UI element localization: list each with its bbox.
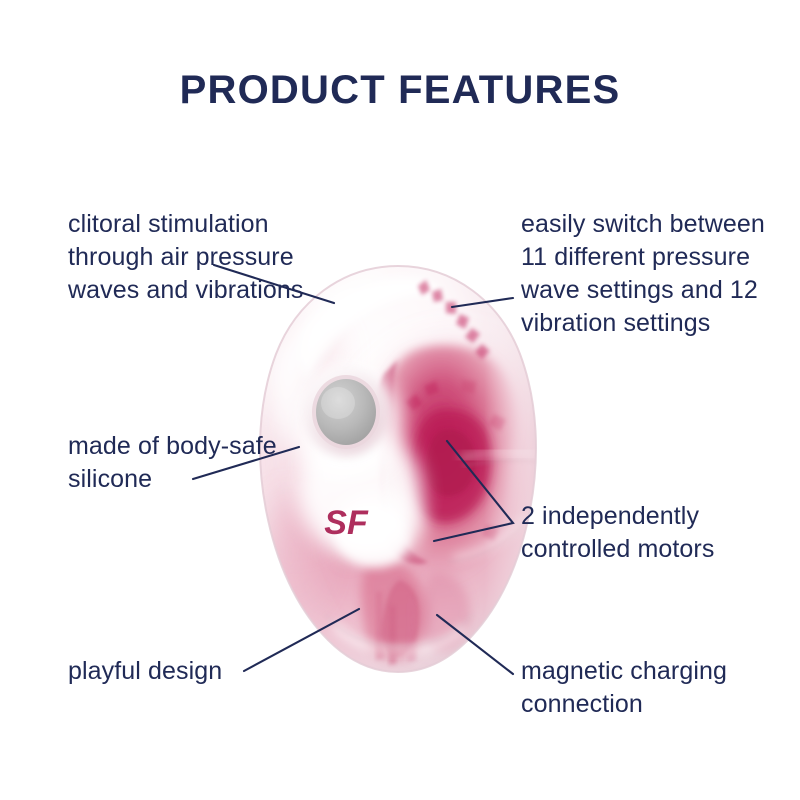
callout-pressure-wave-settings: easily switch between 11 different press… [521, 208, 771, 340]
page-title: PRODUCT FEATURES [0, 68, 800, 112]
callout-magnetic-charging: magnetic charging connection [521, 655, 771, 721]
callout-playful-design: playful design [68, 655, 298, 688]
infographic-page: PRODUCT FEATURES [0, 0, 800, 800]
product-image: SF [248, 262, 548, 674]
air-pulse-nozzle [304, 368, 388, 456]
product-illustration: SF [248, 262, 548, 674]
brand-logo: SF [324, 504, 369, 542]
brand-logo-text: SF [324, 504, 369, 542]
callout-clitoral-stimulation: clitoral stimulation through air pressur… [68, 208, 318, 307]
callout-controlled-motors: 2 independently controlled motors [521, 500, 771, 566]
callout-body-safe-silicone: made of body-safe silicone [68, 430, 283, 496]
